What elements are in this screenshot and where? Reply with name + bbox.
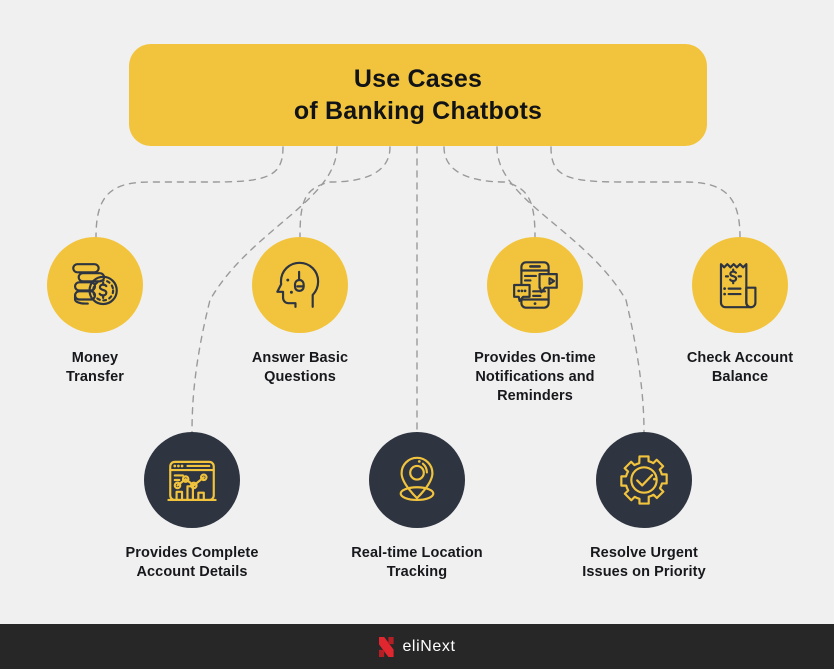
phone-notification-icon	[506, 256, 564, 314]
connector-to-account-balance	[551, 147, 740, 237]
use-case-notifications-reminders[interactable]: Provides On-time Notifications and Remin…	[440, 237, 630, 406]
use-case-label: Provides Complete Account Details	[125, 544, 258, 582]
receipt-dollar-icon	[711, 256, 769, 314]
icon-circle	[252, 237, 348, 333]
use-case-check-account-balance[interactable]: Check Account Balance	[645, 237, 834, 387]
icon-circle	[692, 237, 788, 333]
icon-circle	[144, 432, 240, 528]
use-case-location-tracking[interactable]: Real-time Location Tracking	[322, 432, 512, 582]
use-case-complete-account-details[interactable]: Provides Complete Account Details	[97, 432, 287, 582]
icon-circle	[47, 237, 143, 333]
use-case-label: Money Transfer	[66, 349, 124, 387]
connector-to-notifications	[444, 147, 535, 237]
title-line-1: Use Cases	[354, 63, 482, 95]
footer-bar: eliNext	[0, 624, 834, 669]
use-case-answer-basic-questions[interactable]: Answer Basic Questions	[205, 237, 395, 387]
use-case-label: Check Account Balance	[687, 349, 793, 387]
use-case-label: Answer Basic Questions	[252, 349, 348, 387]
elinext-logo-mark	[378, 636, 395, 658]
use-case-label: Provides On-time Notifications and Remin…	[474, 349, 596, 406]
page-title: Use Cases of Banking Chatbots	[129, 44, 707, 146]
icon-circle	[596, 432, 692, 528]
title-line-2: of Banking Chatbots	[294, 95, 542, 127]
icon-circle	[487, 237, 583, 333]
coins-dollar-icon	[66, 256, 124, 314]
use-case-money-transfer[interactable]: Money Transfer	[0, 237, 190, 387]
location-pin-icon	[388, 451, 446, 509]
dashboard-chart-icon	[163, 451, 221, 509]
brand-logo[interactable]: eliNext	[378, 636, 455, 658]
infographic-canvas: Use Cases of Banking Chatbots Money Tran…	[0, 0, 834, 669]
headset-head-icon	[271, 256, 329, 314]
use-case-label: Real-time Location Tracking	[351, 544, 483, 582]
brand-logo-text: eliNext	[402, 638, 455, 656]
use-case-resolve-urgent-issues[interactable]: Resolve Urgent Issues on Priority	[549, 432, 739, 582]
connector-to-money-transfer	[96, 147, 283, 237]
icon-circle	[369, 432, 465, 528]
connector-to-answer-questions	[300, 147, 390, 237]
use-case-label: Resolve Urgent Issues on Priority	[582, 544, 705, 582]
gear-check-icon	[615, 451, 673, 509]
